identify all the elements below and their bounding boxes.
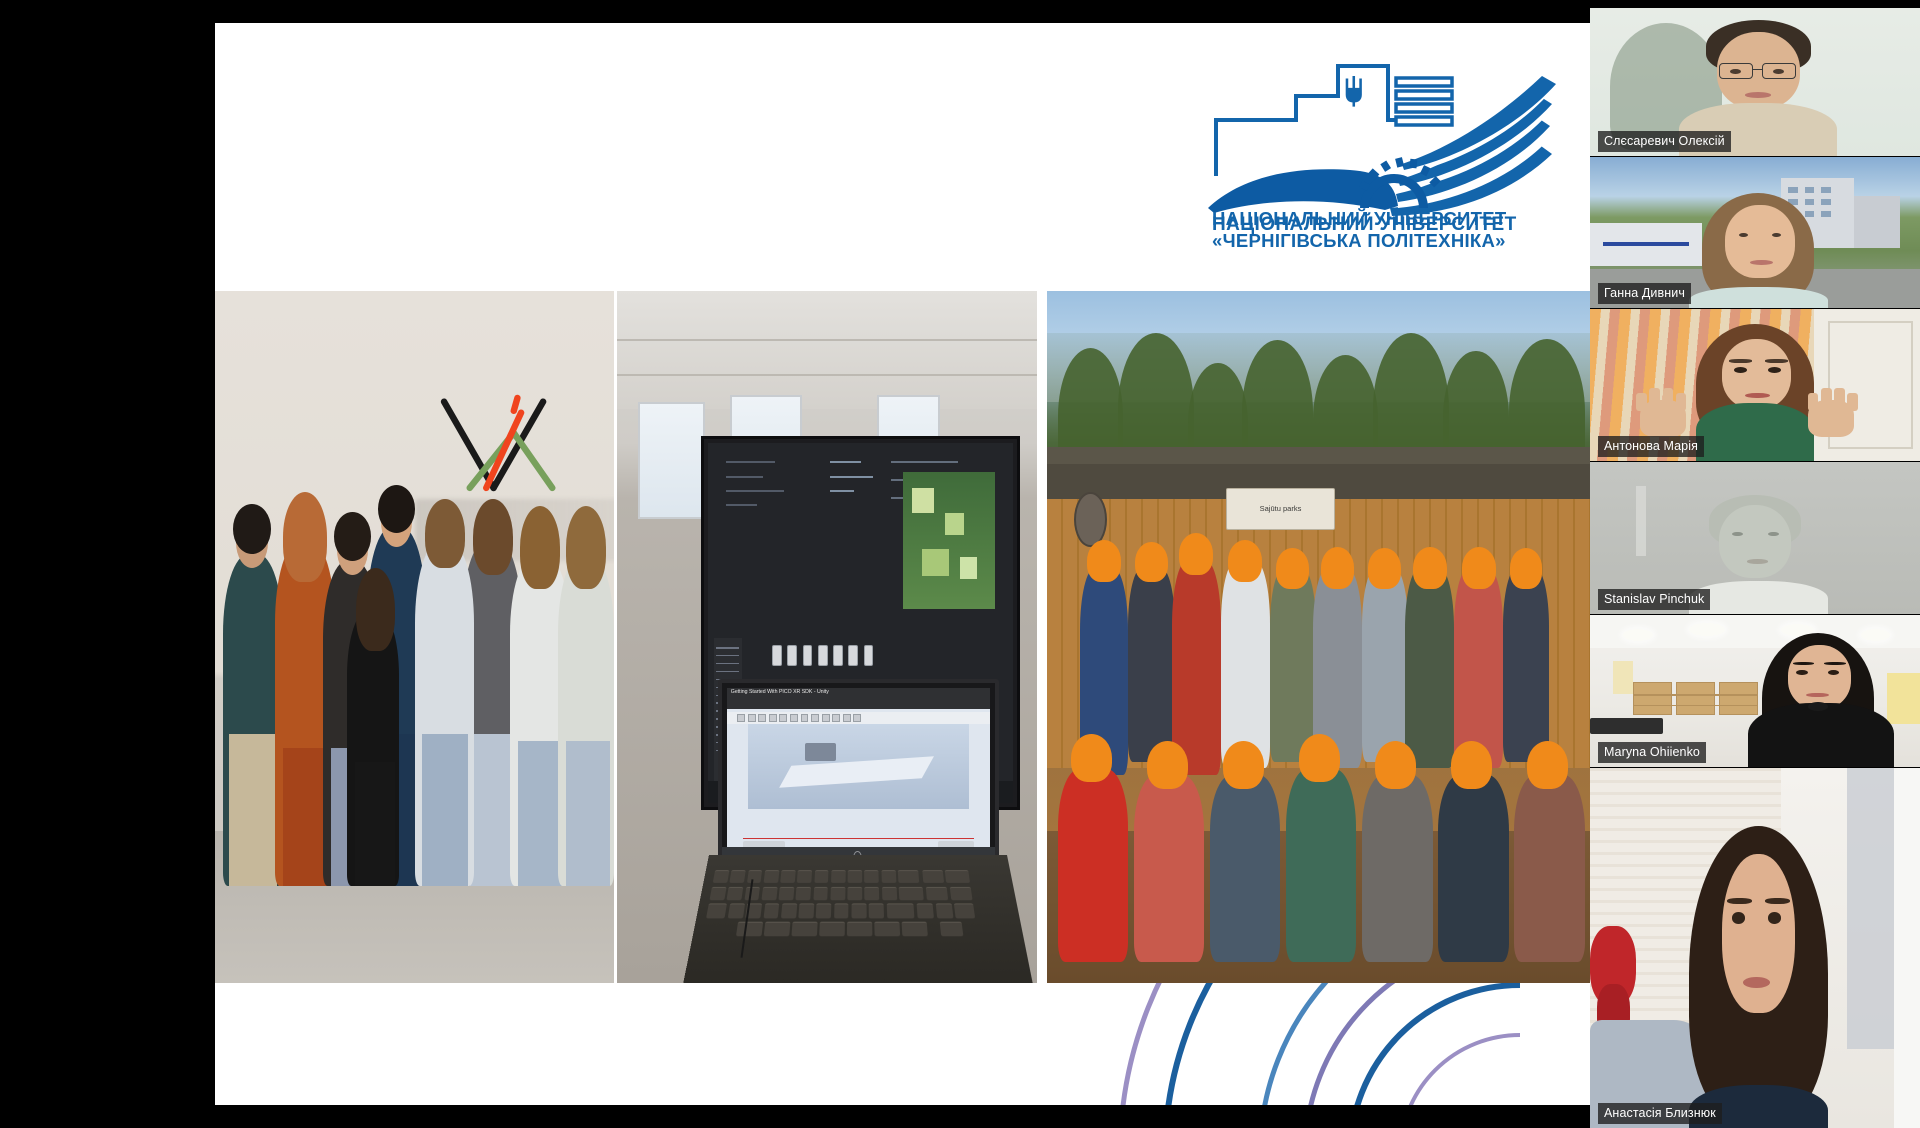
cabin-vent xyxy=(1074,492,1107,547)
participant-tile-1[interactable]: Слєсаревич Олексій xyxy=(1590,8,1920,156)
chernihiv-polytechnic-logo: НАЦІОНАЛЬНИЙ УНІВЕРСИТЕТ НАЦІОНАЛЬНИЙ УН… xyxy=(1200,58,1590,238)
park-person-front xyxy=(1058,769,1129,963)
slide-photo-strip: Getting Started With PICO XR SDK - Unity xyxy=(215,291,1590,983)
park-person-front xyxy=(1286,769,1357,963)
safety-helmet xyxy=(1527,741,1568,789)
hp-laptop: Getting Started With PICO XR SDK - Unity xyxy=(718,679,999,983)
logo-line-1-text: НАЦІОНАЛЬНИЙ УНІВЕРСИТЕТ xyxy=(1212,208,1506,230)
unity-ground-plane xyxy=(779,757,934,789)
safety-helmet xyxy=(1299,734,1340,782)
video-conference-window: НАЦІОНАЛЬНИЙ УНІВЕРСИТЕТ НАЦІОНАЛЬНИЙ УН… xyxy=(0,0,1920,1128)
safety-helmet xyxy=(1276,548,1309,588)
safety-helmet xyxy=(1321,547,1355,589)
participant-name-4: Stanislav Pinchuk xyxy=(1598,589,1710,610)
park-sign: Sajūtu parks xyxy=(1226,488,1335,530)
park-person xyxy=(1405,568,1454,769)
park-person-front xyxy=(1134,775,1205,962)
participant-name-1: Слєсаревич Олексій xyxy=(1598,131,1731,152)
studio-person-hair xyxy=(473,499,513,575)
participant-name-3: Антонова Марія xyxy=(1598,436,1704,457)
unity-scene-preview xyxy=(748,724,969,810)
park-person-front xyxy=(1514,775,1585,962)
shared-screen-stage[interactable]: НАЦІОНАЛЬНИЙ УНІВЕРСИТЕТ НАЦІОНАЛЬНИЙ УН… xyxy=(0,0,1590,1128)
studio-person-legs xyxy=(422,734,468,886)
unity-toolbar[interactable] xyxy=(727,712,990,724)
studio-person-hair xyxy=(233,504,271,554)
unity-scene-view xyxy=(903,472,995,609)
studio-person-hair xyxy=(566,506,606,589)
studio-person-hair xyxy=(334,512,371,560)
park-person xyxy=(1270,568,1316,762)
studio-person-hair xyxy=(425,499,465,568)
photo-vr-development-desk: Getting Started With PICO XR SDK - Unity xyxy=(617,291,1037,983)
park-person-front xyxy=(1438,775,1509,962)
studio-person-legs xyxy=(283,748,327,886)
park-person xyxy=(1362,568,1408,762)
participant-tile-3[interactable]: Антонова Марія xyxy=(1590,309,1920,461)
safety-helmet xyxy=(1071,734,1112,782)
safety-helmet xyxy=(1510,548,1543,588)
photo-outdoor-adventure-park: Sajūtu parks xyxy=(1047,291,1590,983)
safety-helmet xyxy=(1228,540,1262,582)
safety-helmet xyxy=(1462,547,1496,589)
participant-video-rail[interactable]: Слєсаревич Олексій xyxy=(1590,0,1920,1128)
safety-helmet xyxy=(1135,542,1168,582)
laptop-base xyxy=(681,855,1036,983)
park-person-front xyxy=(1362,775,1433,962)
logo-line-2-text: «ЧЕРНІГІВСЬКА ПОЛІТЕХНІКА» xyxy=(1212,230,1506,252)
studio-person-hair xyxy=(520,506,560,589)
studio-person-hair xyxy=(356,568,394,651)
safety-helmet xyxy=(1413,547,1447,589)
safety-helmet xyxy=(1147,741,1188,789)
photo-gap-2 xyxy=(1037,291,1047,983)
choker-accessory xyxy=(1808,702,1828,711)
participant-tile-5[interactable]: Maryna Ohiienko xyxy=(1590,615,1920,767)
participant-tile-2[interactable]: Ганна Дивнич xyxy=(1590,157,1920,308)
participant-name-5: Maryna Ohiienko xyxy=(1598,742,1706,763)
park-person xyxy=(1503,568,1549,762)
photo-student-group-studio xyxy=(215,291,614,983)
vr-headset-model xyxy=(805,743,836,762)
laptop-lid: Getting Started With PICO XR SDK - Unity xyxy=(718,679,999,862)
studio-person-legs xyxy=(355,762,395,887)
safety-helmet xyxy=(1451,741,1492,789)
ceiling-line xyxy=(617,374,1037,376)
park-person xyxy=(1172,561,1221,776)
participant-name-2: Ганна Дивнич xyxy=(1598,283,1691,304)
safety-helmet xyxy=(1179,533,1213,575)
participant-name-6: Анастасія Близнюк xyxy=(1598,1103,1722,1124)
safety-helmet xyxy=(1223,741,1264,789)
room-window xyxy=(638,402,705,520)
laptop-screen: Getting Started With PICO XR SDK - Unity xyxy=(727,688,990,853)
park-person xyxy=(1221,561,1270,769)
safety-helmet xyxy=(1375,741,1416,789)
studio-person-legs xyxy=(566,741,610,886)
room-ceiling xyxy=(617,291,1037,409)
safety-helmet xyxy=(1368,548,1401,588)
park-person xyxy=(1454,568,1503,769)
park-person xyxy=(1128,568,1174,762)
studio-person-hair xyxy=(283,492,327,582)
unity-window-title: Getting Started With PICO XR SDK - Unity xyxy=(727,688,990,709)
participant-tile-6[interactable]: Анастасія Близнюк xyxy=(1590,768,1920,1128)
participant-video-6 xyxy=(1590,768,1920,1128)
presentation-slide: НАЦІОНАЛЬНИЙ УНІВЕРСИТЕТ НАЦІОНАЛЬНИЙ УН… xyxy=(215,23,1590,1105)
safety-helmet xyxy=(1087,540,1121,582)
participant-tile-4[interactable]: Stanislav Pinchuk xyxy=(1590,462,1920,614)
park-person-front xyxy=(1210,775,1281,962)
ceiling-line xyxy=(617,339,1037,341)
unity-timeline-track xyxy=(743,838,975,840)
studio-person-legs xyxy=(229,734,277,886)
